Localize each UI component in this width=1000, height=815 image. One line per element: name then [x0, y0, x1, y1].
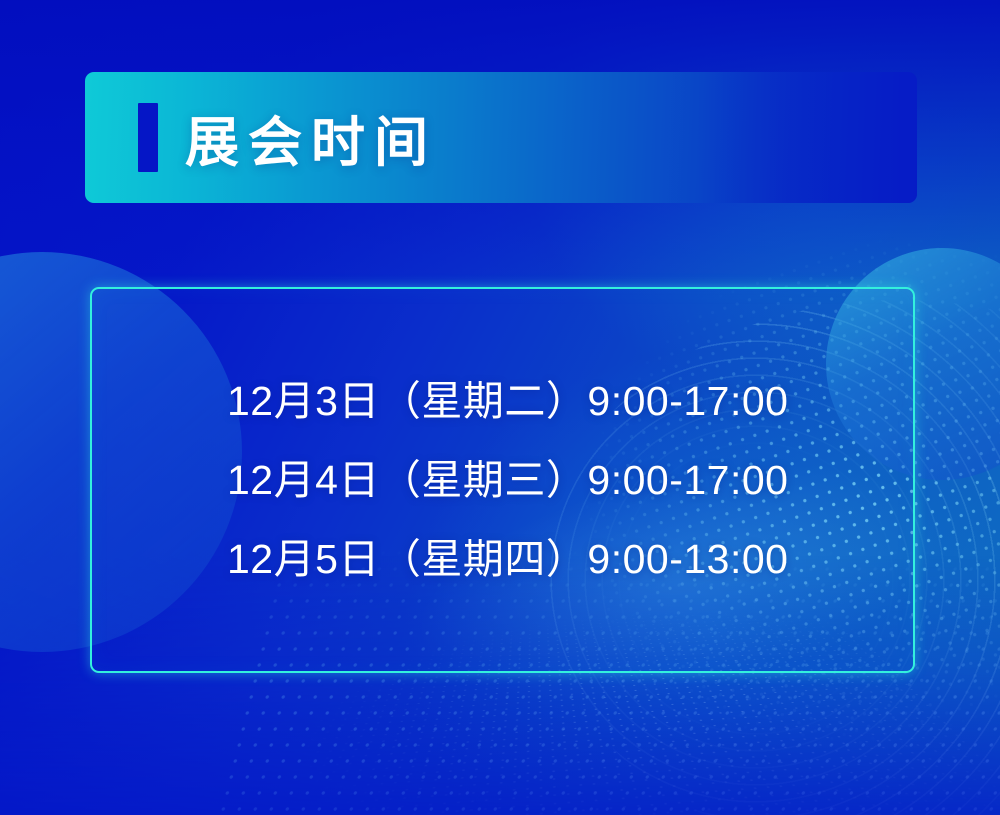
schedule-row-2: 12月4日（星期三）9:00-17:00	[227, 460, 913, 501]
section-header-banner: 展会时间	[85, 72, 917, 203]
schedule-row-3: 12月5日（星期四）9:00-13:00	[227, 539, 913, 580]
schedule-card: 12月3日（星期二）9:00-17:00 12月4日（星期三）9:00-17:0…	[90, 287, 915, 673]
banner-right-fade	[697, 72, 917, 203]
page-title: 展会时间	[185, 97, 437, 177]
poster-canvas: 展会时间 12月3日（星期二）9:00-17:00 12月4日（星期三）9:00…	[0, 0, 1000, 815]
schedule-list: 12月3日（星期二）9:00-17:00 12月4日（星期三）9:00-17:0…	[92, 289, 913, 671]
banner-accent-bar	[138, 103, 158, 172]
schedule-row-1: 12月3日（星期二）9:00-17:00	[227, 381, 913, 422]
